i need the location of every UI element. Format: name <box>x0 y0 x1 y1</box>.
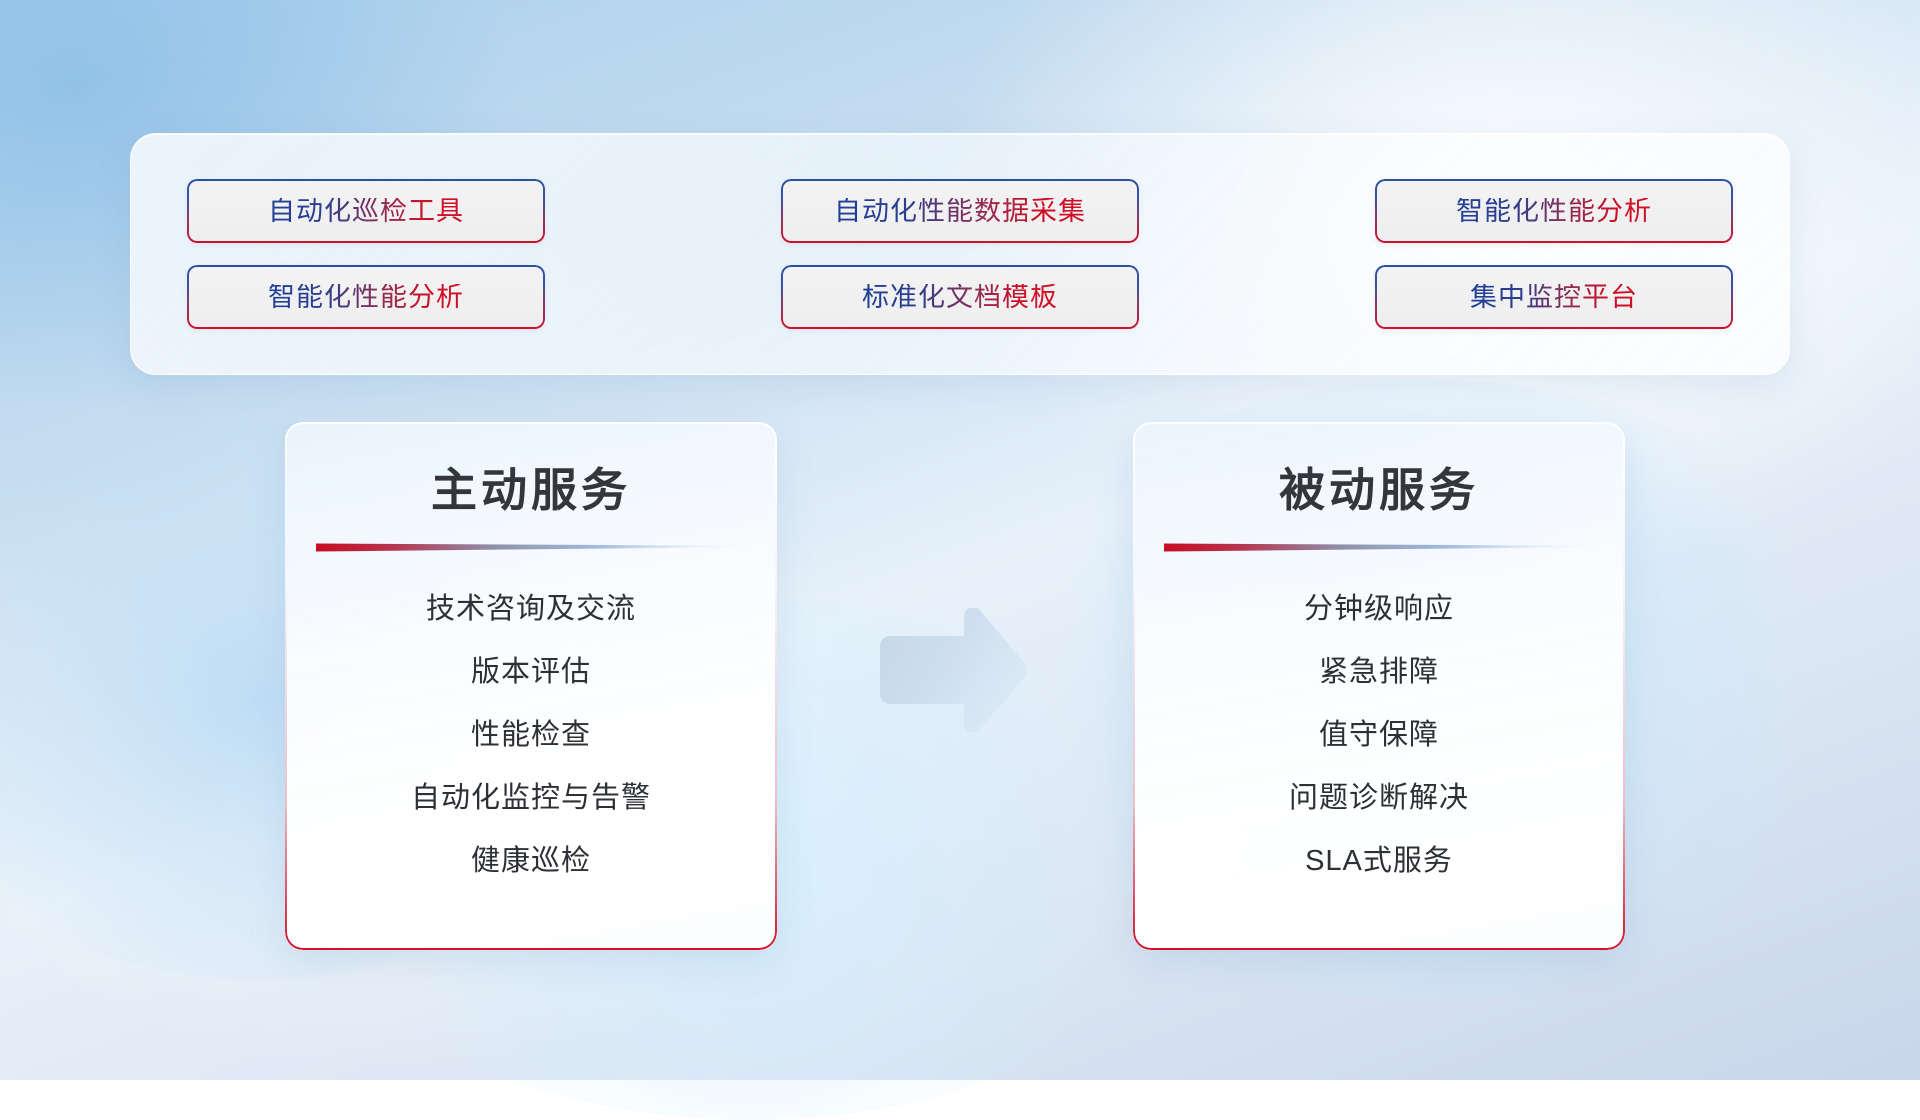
capability-panel: 自动化巡检工具 自动化性能数据采集 智能化性能分析 智能化性能分析 标准化文档模… <box>130 133 1790 375</box>
card-divider <box>316 541 746 552</box>
capability-pill-label: 集中监控平台 <box>1470 284 1638 311</box>
card-item-list: 分钟级响应 紧急排障 值守保障 问题诊断解决 SLA式服务 <box>1163 552 1595 893</box>
card-title: 主动服务 <box>315 422 747 517</box>
capability-pill-label: 智能化性能分析 <box>1456 198 1652 225</box>
capability-pill-label: 自动化性能数据采集 <box>834 198 1086 225</box>
list-item: 问题诊断解决 <box>1163 767 1595 830</box>
list-item: 版本评估 <box>315 641 747 704</box>
card-divider <box>1164 541 1594 552</box>
capability-pill-label: 自动化巡检工具 <box>268 198 464 225</box>
capability-pill-centralized-monitoring-platform[interactable]: 集中监控平台 <box>1375 265 1733 329</box>
card-title: 被动服务 <box>1163 422 1595 517</box>
service-card-reactive: 被动服务 分钟级响应 紧急排障 值守保障 <box>1133 422 1625 950</box>
capability-pill-label: 智能化性能分析 <box>268 284 464 311</box>
capability-pill-intelligent-performance-analysis-top[interactable]: 智能化性能分析 <box>1375 179 1733 243</box>
capability-row-1: 自动化巡检工具 自动化性能数据采集 智能化性能分析 <box>187 179 1733 243</box>
capability-pill-intelligent-performance-analysis-bottom[interactable]: 智能化性能分析 <box>187 265 545 329</box>
service-card-proactive: 主动服务 技术咨询及交流 版本评估 性能检查 <box>285 422 777 950</box>
diagram-canvas: 自动化巡检工具 自动化性能数据采集 智能化性能分析 智能化性能分析 标准化文档模… <box>0 0 1920 1080</box>
list-item: 健康巡检 <box>315 830 747 893</box>
card-item-list: 技术咨询及交流 版本评估 性能检查 自动化监控与告警 健康巡检 <box>315 552 747 893</box>
list-item: 分钟级响应 <box>1163 578 1595 641</box>
right-arrow-icon <box>868 608 1034 738</box>
list-item: 紧急排障 <box>1163 641 1595 704</box>
capability-row-2: 智能化性能分析 标准化文档模板 集中监控平台 <box>187 265 1733 329</box>
list-item: 技术咨询及交流 <box>315 578 747 641</box>
capability-pill-auto-inspection-tool[interactable]: 自动化巡检工具 <box>187 179 545 243</box>
list-item: 自动化监控与告警 <box>315 767 747 830</box>
capability-pill-auto-performance-data-collection[interactable]: 自动化性能数据采集 <box>781 179 1139 243</box>
list-item: 值守保障 <box>1163 704 1595 767</box>
capability-pill-standard-doc-template[interactable]: 标准化文档模板 <box>781 265 1139 329</box>
list-item: 性能检查 <box>315 704 747 767</box>
capability-pill-label: 标准化文档模板 <box>862 284 1058 311</box>
list-item: SLA式服务 <box>1163 830 1595 893</box>
